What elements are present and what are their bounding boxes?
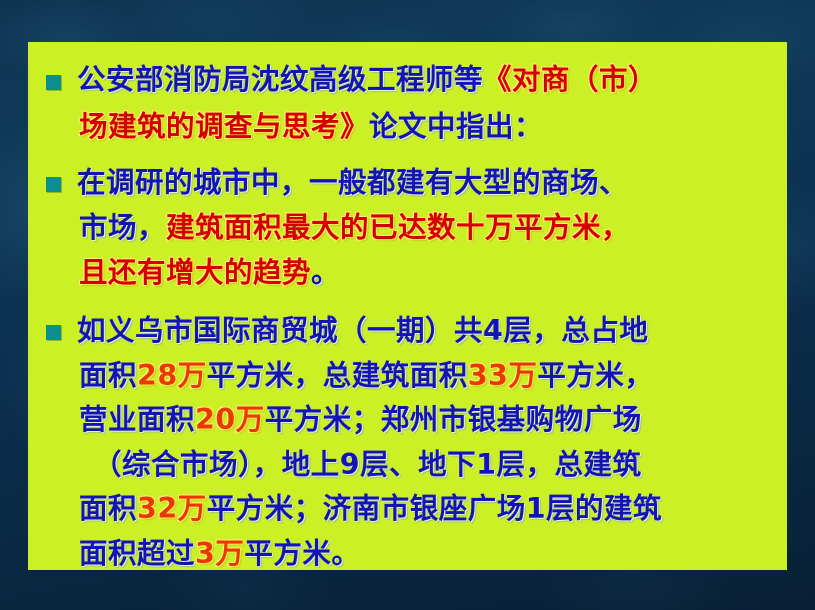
text-run: 。 [311, 256, 340, 289]
text-run: 场建筑的调查与思考》 [79, 110, 369, 143]
number-run: 9 [340, 448, 360, 481]
number-run: 3万 [195, 537, 244, 570]
text-run: 平方米，总建筑面积 [207, 359, 468, 392]
slide-canvas: 公安部消防局沈纹高级工程师等《对商（市） 场建筑的调查与思考》论文中指出： 在调… [0, 0, 815, 610]
number-run: 1 [526, 492, 546, 525]
bullet-square-icon [46, 75, 61, 90]
text-run: 层，总占地 [503, 314, 648, 347]
text-run: 市场， [79, 211, 166, 244]
bullet-3-line-3: 营业面积20万平方米；郑州市银基购物广场 [77, 398, 777, 443]
text-run: （综合市场），地上 [93, 448, 340, 481]
bullet-3-line-1: 如义乌市国际商贸城（一期）共4层，总占地 [77, 309, 777, 354]
bullet-2-line-1: 在调研的城市中，一般都建有大型的商场、 [77, 160, 777, 205]
bullet-block-3: 如义乌市国际商贸城（一期）共4层，总占地 面积28万平方米，总建筑面积33万平方… [38, 309, 777, 576]
text-run: 面积超过 [79, 537, 195, 570]
text-run: 层，总建筑 [496, 448, 641, 481]
number-run: 28万 [137, 359, 207, 392]
text-run: 建筑面积最大的已达数十万平方米， [166, 211, 630, 244]
bullet-3-line-2: 面积28万平方米，总建筑面积33万平方米， [77, 354, 777, 399]
text-run: 公安部消防局沈纹高级工程师等 [77, 63, 483, 96]
bullet-square-icon [46, 325, 61, 340]
text-run: 《对商（市） [483, 63, 657, 96]
bullet-block-2: 在调研的城市中，一般都建有大型的商场、 市场，建筑面积最大的已达数十万平方米， … [38, 160, 777, 295]
bullet-3-line-6: 面积超过3万平方米。 [77, 532, 777, 577]
number-run: 33万 [468, 359, 538, 392]
number-run: 1 [476, 448, 496, 481]
text-run: 面积 [79, 492, 137, 525]
bullet-3-line-4: （综合市场），地上9层、地下1层，总建筑 [77, 443, 777, 488]
text-run: 在调研的城市中，一般都建有大型的商场、 [77, 166, 628, 199]
text-run: 平方米。 [244, 537, 360, 570]
text-run: 平方米， [537, 359, 653, 392]
text-run: 论文中指出： [369, 110, 543, 143]
bullet-3-line-5: 面积32万平方米；济南市银座广场1层的建筑 [77, 487, 777, 532]
bullet-2-line-2: 市场，建筑面积最大的已达数十万平方米， [77, 205, 777, 250]
content-panel: 公安部消防局沈纹高级工程师等《对商（市） 场建筑的调查与思考》论文中指出： 在调… [28, 42, 787, 570]
bullet-square-icon [46, 177, 61, 192]
number-run: 32万 [137, 492, 207, 525]
bullet-1-line-1: 公安部消防局沈纹高级工程师等《对商（市） [77, 56, 777, 103]
bullet-2-line-3: 且还有增大的趋势。 [77, 250, 777, 295]
text-run: 面积 [79, 359, 137, 392]
text-run: 平方米；郑州市银基购物广场 [265, 403, 642, 436]
text-run: 营业面积 [79, 403, 195, 436]
text-run: 层、地下 [360, 448, 476, 481]
number-run: 20万 [195, 403, 265, 436]
text-run: 层的建筑 [546, 492, 662, 525]
bullet-1-line-2: 场建筑的调查与思考》论文中指出： [77, 103, 777, 150]
text-run: 平方米；济南市银座广场 [207, 492, 526, 525]
text-run: 且还有增大的趋势 [79, 256, 311, 289]
bullet-block-1: 公安部消防局沈纹高级工程师等《对商（市） 场建筑的调查与思考》论文中指出： [38, 56, 777, 150]
text-run: 如义乌市国际商贸城（一期）共 [77, 314, 483, 347]
number-run: 4 [483, 314, 503, 347]
